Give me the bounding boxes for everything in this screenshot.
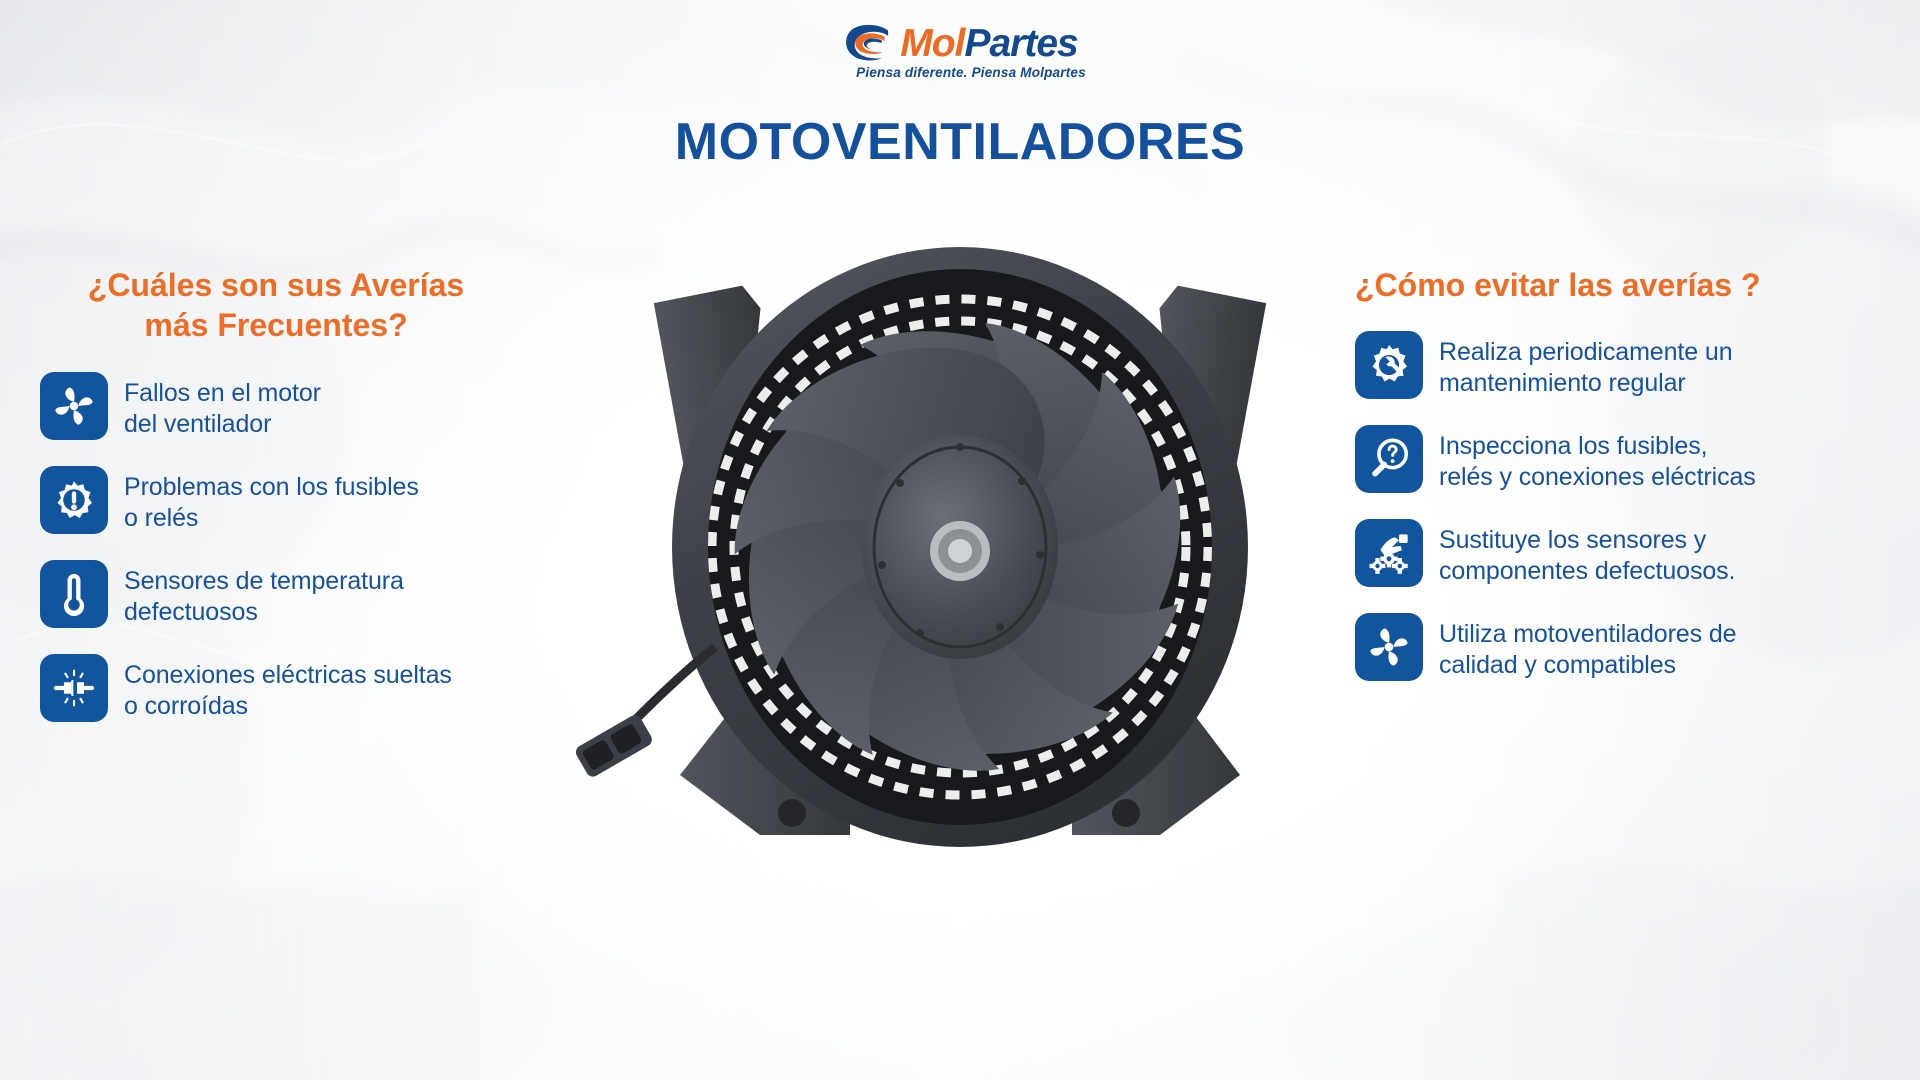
list-item[interactable]: Inspecciona los fusibles, relés y conexi…: [1355, 425, 1895, 493]
list-item-text: Sensores de temperatura defectuosos: [124, 560, 404, 628]
list-item[interactable]: Sustituye los sensores y componentes def…: [1355, 519, 1895, 587]
list-item[interactable]: Problemas con los fusibles o relés: [40, 466, 540, 534]
logo-name-part2: Partes: [964, 22, 1077, 65]
hand-gears-icon: [1355, 519, 1423, 587]
list-item-line2: defectuosos: [124, 597, 404, 628]
list-item-line2: relés y conexiones eléctricas: [1439, 462, 1756, 493]
logo-name-part1: Mol: [900, 22, 964, 65]
fan-icon: [40, 372, 108, 440]
list-item-line1: Sustituye los sensores y: [1439, 525, 1735, 556]
list-item[interactable]: Utiliza motoventiladores de calidad y co…: [1355, 613, 1895, 681]
list-item-line1: Realiza periodicamente un: [1439, 337, 1733, 368]
fan-icon: [1355, 613, 1423, 681]
logo-tagline: Piensa diferente. Piensa Molpartes: [856, 65, 1086, 80]
list-item-text: Problemas con los fusibles o relés: [124, 466, 419, 534]
list-item-line2: componentes defectuosos.: [1439, 556, 1735, 587]
list-item-line2: del ventilador: [124, 409, 321, 440]
unplugged-icon: [40, 654, 108, 722]
left-items-list: Fallos en el motor del ventilador Proble…: [40, 372, 540, 722]
list-item[interactable]: Fallos en el motor del ventilador: [40, 372, 540, 440]
list-item-line2: calidad y compatibles: [1439, 650, 1736, 681]
gear-wrench-icon: [1355, 331, 1423, 399]
left-column-heading: ¿Cuáles son sus Averías más Frecuentes?: [40, 265, 540, 346]
left-heading-line1: ¿Cuáles son sus Averías: [40, 265, 512, 305]
right-column-heading: ¿Cómo evitar las averías ?: [1355, 265, 1895, 305]
magnifier-question-icon: [1355, 425, 1423, 493]
right-items-list: Realiza periodicamente un mantenimiento …: [1355, 331, 1895, 681]
list-item-text: Realiza periodicamente un mantenimiento …: [1439, 331, 1733, 399]
left-heading-line2: más Frecuentes?: [40, 305, 512, 345]
list-item-line1: Conexiones eléctricas sueltas: [124, 660, 452, 691]
list-item-line2: o corroídas: [124, 691, 452, 722]
page-title: MOTOVENTILADORES: [0, 112, 1920, 172]
list-item-line1: Fallos en el motor: [124, 378, 321, 409]
list-item-line1: Inspecciona los fusibles,: [1439, 431, 1756, 462]
gear-alert-icon: [40, 466, 108, 534]
list-item-line2: mantenimiento regular: [1439, 368, 1733, 399]
list-item-line1: Sensores de temperatura: [124, 566, 404, 597]
list-item[interactable]: Conexiones eléctricas sueltas o corroída…: [40, 654, 540, 722]
list-item-line1: Problemas con los fusibles: [124, 472, 419, 503]
list-item-text: Inspecciona los fusibles, relés y conexi…: [1439, 425, 1756, 493]
list-item-line1: Utiliza motoventiladores de: [1439, 619, 1736, 650]
left-column: ¿Cuáles son sus Averías más Frecuentes? …: [40, 265, 540, 722]
list-item-text: Utiliza motoventiladores de calidad y co…: [1439, 613, 1736, 681]
list-item-line2: o relés: [124, 503, 419, 534]
list-item[interactable]: Realiza periodicamente un mantenimiento …: [1355, 331, 1895, 399]
list-item[interactable]: Sensores de temperatura defectuosos: [40, 560, 540, 628]
right-column: ¿Cómo evitar las averías ? Realiza perio…: [1355, 265, 1895, 681]
brand-logo: MolPartes Piensa diferente. Piensa Molpa…: [834, 22, 1086, 80]
list-item-text: Sustituye los sensores y componentes def…: [1439, 519, 1735, 587]
product-image-cooling-fan: [560, 235, 1360, 875]
thermometer-icon: [40, 560, 108, 628]
swoosh-car-icon: [842, 22, 896, 64]
list-item-text: Fallos en el motor del ventilador: [124, 372, 321, 440]
list-item-text: Conexiones eléctricas sueltas o corroída…: [124, 654, 452, 722]
